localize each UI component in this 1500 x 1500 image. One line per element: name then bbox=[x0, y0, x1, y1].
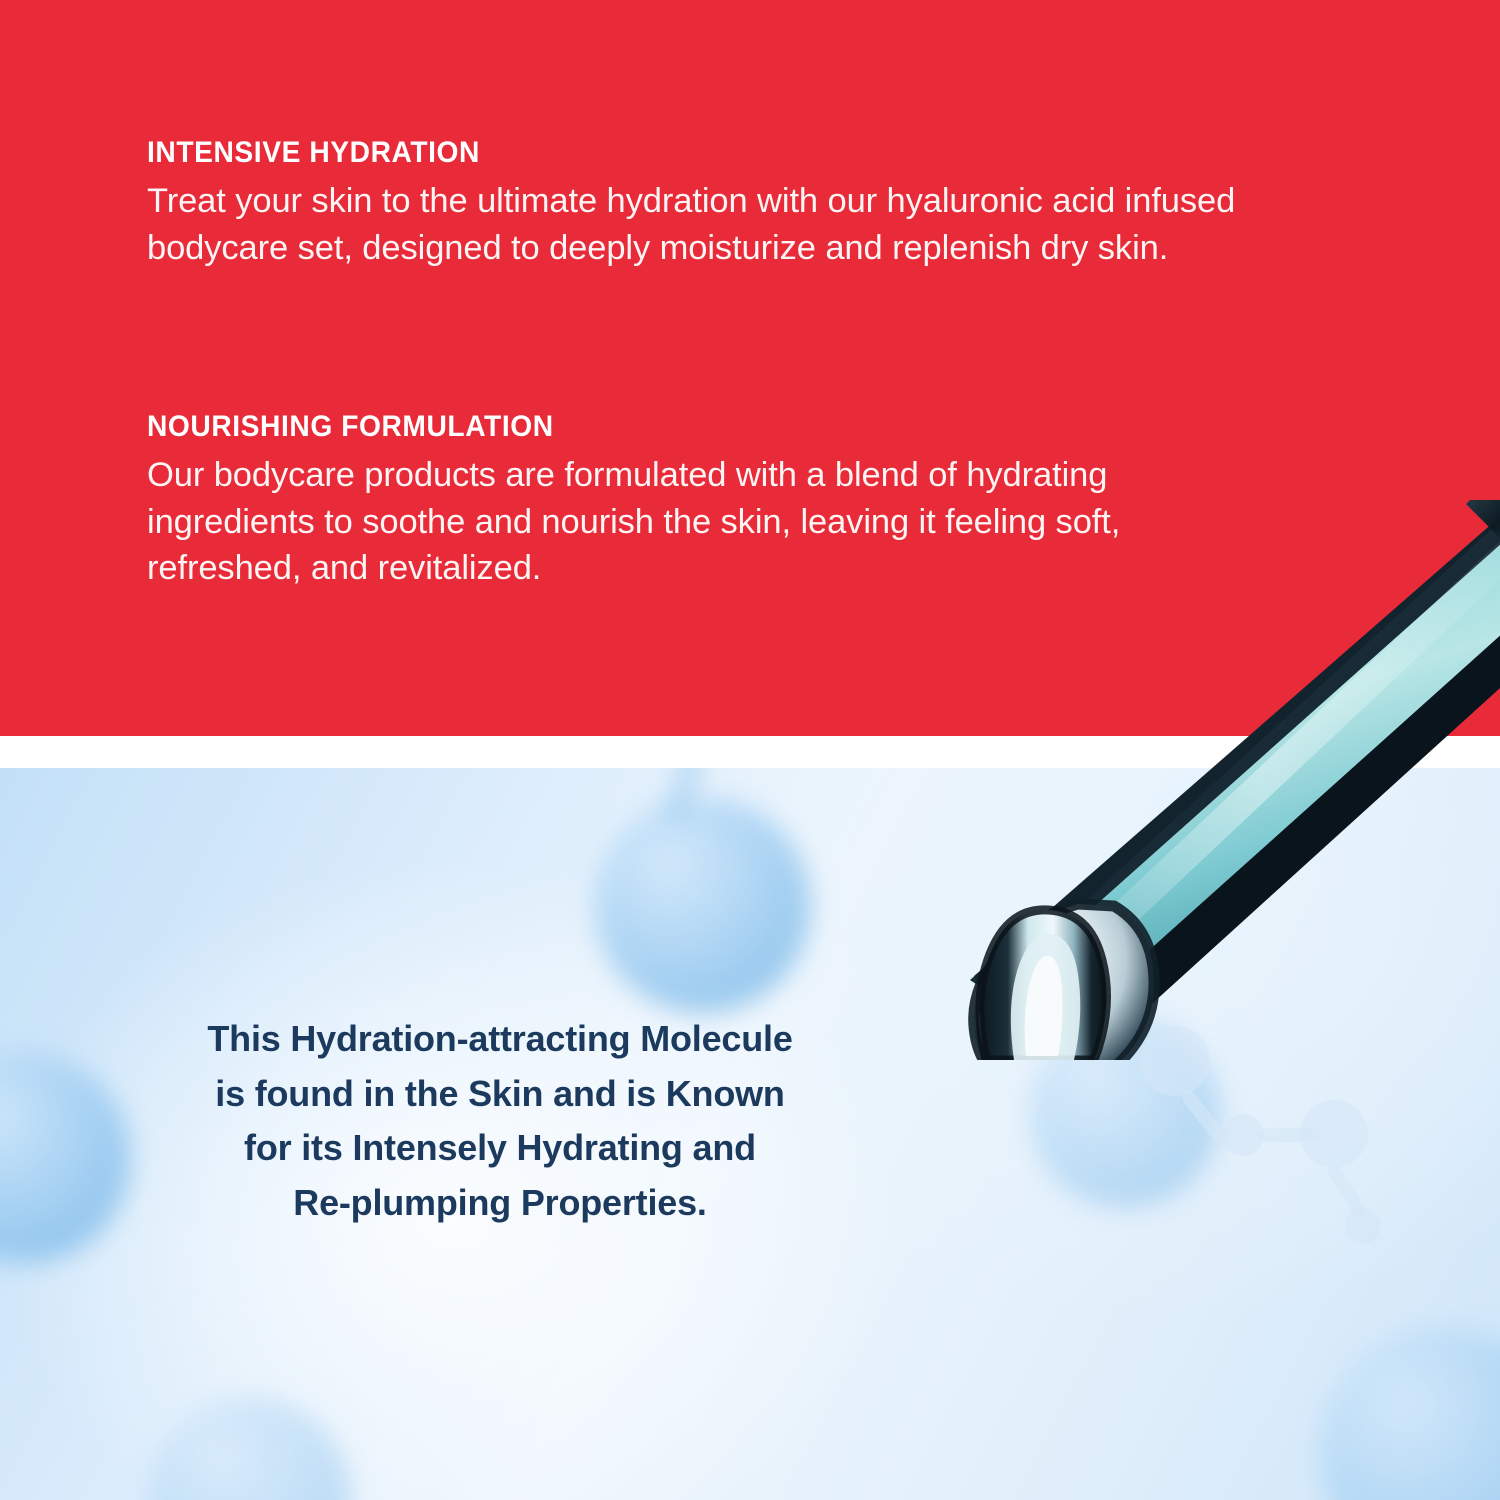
faint-molecule-node bbox=[1300, 1100, 1368, 1168]
feature-nourishing-formulation: NOURISHING FORMULATION Our bodycare prod… bbox=[147, 410, 1357, 592]
feature-body-nourishing-formulation: Our bodycare products are formulated wit… bbox=[147, 452, 1222, 592]
molecule-caption: This Hydration-attracting Molecule is fo… bbox=[70, 1012, 930, 1231]
feature-intensive-hydration: INTENSIVE HYDRATION Treat your skin to t… bbox=[147, 136, 1357, 271]
faint-molecule-node bbox=[1345, 1208, 1381, 1244]
caption-line-3: for its Intensely Hydrating and bbox=[70, 1121, 930, 1176]
blurred-molecule-node bbox=[595, 798, 810, 1013]
features-red-panel: INTENSIVE HYDRATION Treat your skin to t… bbox=[0, 0, 1500, 736]
faint-molecule-node bbox=[1140, 1026, 1210, 1096]
feature-body-intensive-hydration: Treat your skin to the ultimate hydratio… bbox=[147, 178, 1327, 271]
product-infographic: INTENSIVE HYDRATION Treat your skin to t… bbox=[0, 0, 1500, 1500]
caption-line-2: is found in the Skin and is Known bbox=[70, 1067, 930, 1122]
panel-divider bbox=[0, 736, 1500, 768]
blurred-molecule-node bbox=[150, 1398, 350, 1500]
blurred-molecule-node bbox=[1320, 1328, 1500, 1500]
feature-title-nourishing-formulation: NOURISHING FORMULATION bbox=[147, 410, 1284, 443]
caption-highlight-phrase: Hydration-attracting Molecule bbox=[290, 1018, 792, 1059]
feature-title-intensive-hydration: INTENSIVE HYDRATION bbox=[147, 136, 1284, 169]
caption-line-1: This Hydration-attracting Molecule bbox=[70, 1012, 930, 1067]
caption-line-4: Re-plumping Properties. bbox=[70, 1176, 930, 1231]
